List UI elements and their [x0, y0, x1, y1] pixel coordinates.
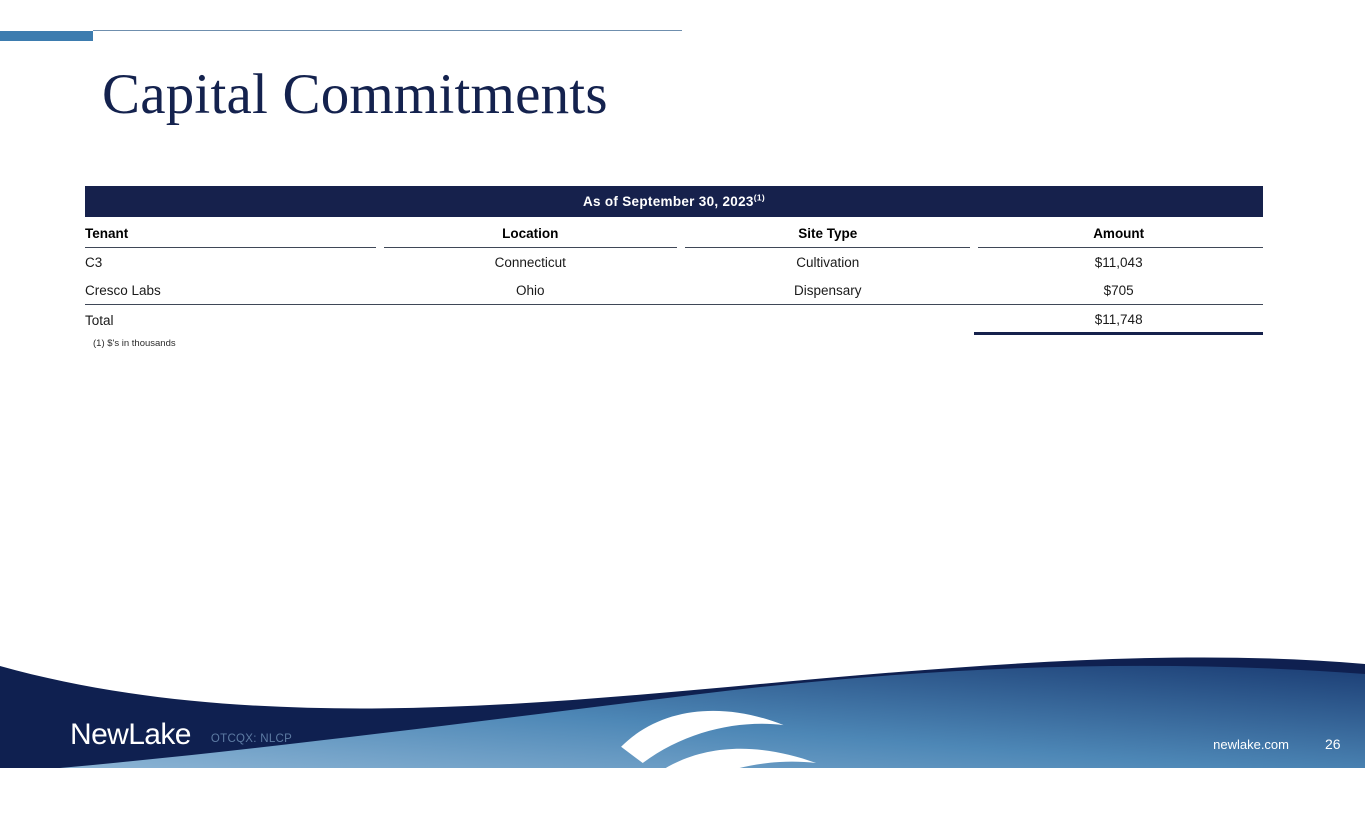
cell-total-label: Total — [85, 305, 380, 334]
header-rule — [93, 30, 682, 31]
banner-footnote-marker: (1) — [754, 193, 765, 203]
cell-site-type: Dispensary — [681, 276, 974, 305]
brand-logo: NewLake OTCQX: NLCP — [70, 720, 292, 750]
table-banner-cell: As of September 30, 2023(1) — [85, 186, 1263, 217]
capital-commitments-table: As of September 30, 2023(1) Tenant Locat… — [85, 186, 1263, 335]
cell-tenant: Cresco Labs — [85, 276, 380, 305]
cell-total-site-type — [681, 305, 974, 334]
table-total-row: Total $11,748 — [85, 305, 1263, 334]
column-header-amount: Amount — [974, 217, 1263, 248]
table-row: C3 Connecticut Cultivation $11,043 — [85, 248, 1263, 277]
cell-total-location — [380, 305, 682, 334]
page-number: 26 — [1325, 736, 1365, 752]
cell-location: Connecticut — [380, 248, 682, 277]
cell-tenant: C3 — [85, 248, 380, 277]
cell-amount: $705 — [974, 276, 1263, 305]
logo-mark-wrap: NewLake — [70, 720, 191, 750]
footnote: (1) $'s in thousands — [93, 338, 176, 349]
column-header-location: Location — [380, 217, 682, 248]
website-url[interactable]: newlake.com — [1213, 737, 1289, 752]
cell-total-amount: $11,748 — [974, 305, 1263, 334]
table-banner-row: As of September 30, 2023(1) — [85, 186, 1263, 217]
cell-location: Ohio — [380, 276, 682, 305]
table-header-row: Tenant Location Site Type Amount — [85, 217, 1263, 248]
column-header-tenant: Tenant — [85, 217, 380, 248]
page-title: Capital Commitments — [102, 62, 608, 128]
table-banner-text: As of September 30, 2023 — [583, 194, 754, 209]
column-header-site-type: Site Type — [681, 217, 974, 248]
table-row: Cresco Labs Ohio Dispensary $705 — [85, 276, 1263, 305]
cell-site-type: Cultivation — [681, 248, 974, 277]
wave-logo-icon — [74, 698, 1365, 828]
footer: NewLake OTCQX: NLCP newlake.com 26 — [0, 638, 1365, 768]
cell-amount: $11,043 — [974, 248, 1263, 277]
footer-right: newlake.com 26 — [1213, 736, 1365, 752]
header-accent-bar — [0, 31, 93, 41]
